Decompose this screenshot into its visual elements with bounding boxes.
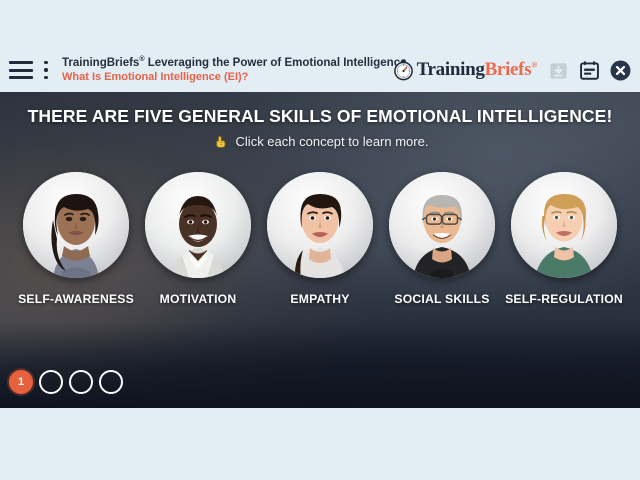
- page-title: THERE ARE FIVE GENERAL SKILLS OF EMOTION…: [0, 106, 640, 127]
- man-smiling-portrait[interactable]: [145, 172, 251, 278]
- concept-item-self-awareness[interactable]: SELF-AWARENESS: [20, 172, 133, 306]
- woman-dark-hair-portrait[interactable]: [23, 172, 129, 278]
- trainingbriefs-logo: TrainingBriefs®: [392, 58, 537, 82]
- course-title-rest: Leveraging the Power of Emotional Intell…: [145, 57, 407, 69]
- concept-item-empathy[interactable]: EMPATHY: [264, 172, 377, 306]
- concept-item-self-regulation[interactable]: SELF-REGULATION: [508, 172, 621, 306]
- hamburger-icon[interactable]: [9, 61, 33, 79]
- header-actions: [547, 59, 632, 82]
- course-title-brand: TrainingBriefs: [62, 57, 139, 69]
- concept-list: SELF-AWARENESS: [0, 172, 640, 306]
- logo-word-training: Training: [417, 59, 485, 80]
- concept-item-social-skills[interactable]: SOCIAL SKILLS: [386, 172, 499, 306]
- instruction-row: Click each concept to learn more.: [0, 133, 640, 150]
- course-title: TrainingBriefs® Leveraging the Power of …: [62, 56, 392, 70]
- hamburger-line: [9, 69, 33, 72]
- concept-item-motivation[interactable]: MOTIVATION: [142, 172, 255, 306]
- concept-label: MOTIVATION: [160, 292, 237, 306]
- instruction-text: Click each concept to learn more.: [236, 134, 429, 149]
- man-glasses-portrait[interactable]: [389, 172, 495, 278]
- pointing-hand-icon: [212, 133, 229, 150]
- header-titles: TrainingBriefs® Leveraging the Power of …: [62, 56, 392, 84]
- kebab-dot: [44, 61, 47, 64]
- woman-blonde-portrait[interactable]: [511, 172, 617, 278]
- concept-label: SELF-AWARENESS: [18, 292, 134, 306]
- pagination-dot-2[interactable]: [39, 370, 63, 394]
- logo-registered-mark: ®: [531, 61, 537, 70]
- hamburger-line: [9, 61, 33, 64]
- hamburger-line: [9, 76, 33, 79]
- pagination: 1: [9, 370, 123, 394]
- concept-label: EMPATHY: [290, 292, 349, 306]
- kebab-dot: [44, 68, 47, 71]
- lesson-subtitle: What Is Emotional Intelligence (EI)?: [62, 71, 392, 84]
- more-options-icon[interactable]: [39, 61, 53, 79]
- pagination-dot-1[interactable]: 1: [9, 370, 33, 394]
- download-box-icon: [547, 59, 570, 82]
- concept-label: SOCIAL SKILLS: [394, 292, 489, 306]
- lesson-stage: THERE ARE FIVE GENERAL SKILLS OF EMOTION…: [0, 92, 640, 408]
- logo-wordmark: TrainingBriefs®: [417, 59, 537, 81]
- kebab-dot: [44, 76, 47, 79]
- stopwatch-icon: [392, 58, 416, 82]
- logo-word-briefs: Briefs: [485, 59, 532, 80]
- app-header: TrainingBriefs® Leveraging the Power of …: [0, 48, 640, 92]
- woman-ponytail-portrait[interactable]: [267, 172, 373, 278]
- pagination-dot-3[interactable]: [69, 370, 93, 394]
- close-icon[interactable]: [609, 59, 632, 82]
- concept-label: SELF-REGULATION: [505, 292, 623, 306]
- pagination-dot-4[interactable]: [99, 370, 123, 394]
- notes-icon[interactable]: [578, 59, 601, 82]
